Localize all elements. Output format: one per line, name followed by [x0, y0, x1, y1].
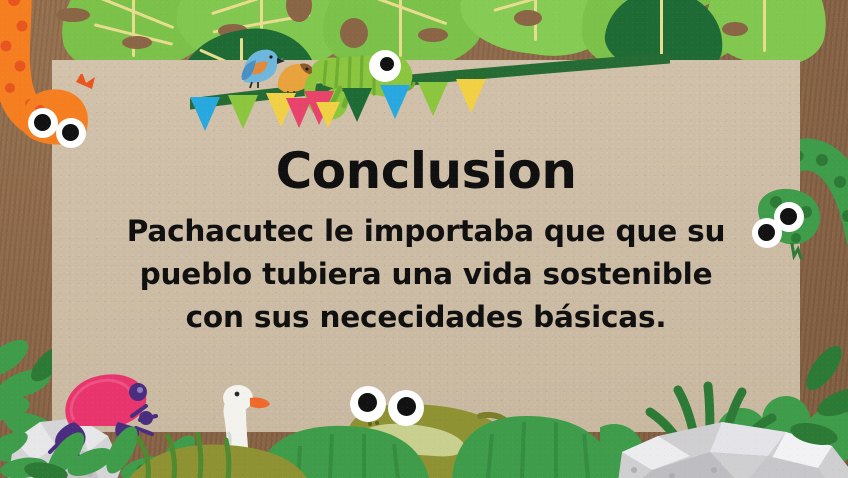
orange-snake-head: [14, 74, 98, 150]
page-title: Conclusion: [80, 146, 772, 196]
chameleon-eye: [371, 52, 399, 80]
snake-eye-left: [30, 110, 56, 136]
bunting-flags: [190, 90, 670, 144]
slide-canvas: Conclusion Pachacutec le importaba que q…: [0, 0, 848, 478]
olive-grass: [128, 432, 308, 478]
grass-icon: [128, 432, 308, 478]
bottom-monstera-leaf: [452, 410, 622, 478]
snake-eye-right: [58, 120, 84, 146]
bunting-flag: [380, 85, 410, 119]
lizard-eye-left: [352, 388, 384, 420]
lizard-eye-right: [390, 392, 422, 424]
snake-head-icon: [14, 74, 98, 150]
bunting-flags-left: [286, 98, 356, 146]
snake-eye-upper: [776, 204, 802, 230]
text-block: Conclusion Pachacutec le importaba que q…: [52, 146, 800, 339]
bunting-flag: [418, 82, 448, 116]
body-text: Pachacutec le importaba que que su puebl…: [80, 210, 772, 339]
snake-eye-lower: [754, 220, 780, 246]
bunting-flag: [316, 102, 340, 128]
bunting-flag: [456, 79, 486, 113]
leaf-cluster-icon: [754, 344, 848, 454]
bunting-flag: [228, 95, 258, 129]
bunting-flag: [190, 97, 220, 131]
bottom-right-leaf-accent: [754, 344, 848, 454]
monstera-leaf-icon: [452, 410, 622, 478]
monstera-leaf-icon: [708, 0, 828, 64]
bunting-flag: [286, 98, 312, 128]
green-snake-head: [748, 182, 830, 262]
